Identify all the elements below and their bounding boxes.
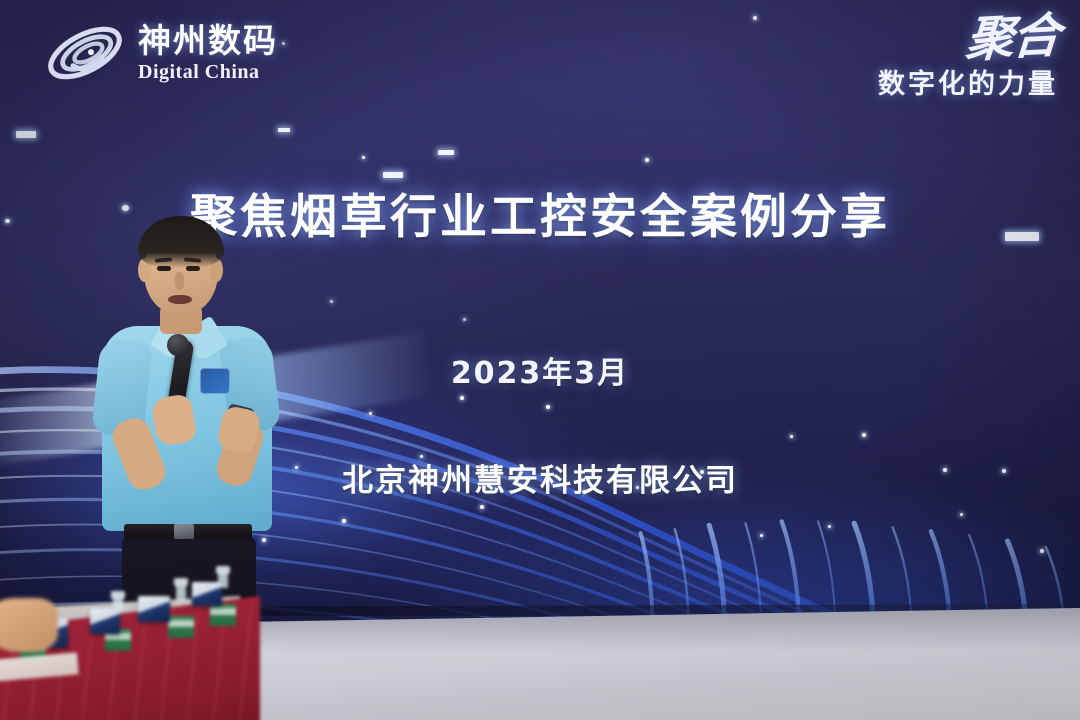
digital-china-logo: 神州数码 Digital China xyxy=(42,18,278,88)
name-card xyxy=(192,582,222,606)
bottle-label-stripe xyxy=(210,608,236,615)
logo-name-cn: 神州数码 xyxy=(138,24,278,57)
eye-right xyxy=(186,266,200,271)
bottle-label-stripe xyxy=(105,633,131,640)
juhe-logo: 聚合 数字化的力量 xyxy=(878,16,1058,101)
name-card xyxy=(138,596,170,622)
spiral-swirl-icon xyxy=(42,18,128,88)
stage-photo: 聚焦烟草行业工控安全案例分享 2023年3月 北京神州慧安科技有限公司 神州数码… xyxy=(0,0,1080,720)
foreground-table xyxy=(0,536,280,720)
juhe-calligraphy: 聚合 xyxy=(964,14,1060,63)
speaker-hair xyxy=(138,216,224,268)
attendee-hand xyxy=(0,598,58,652)
shirt-chest-logo xyxy=(200,368,230,394)
eye-left xyxy=(157,266,171,271)
mouth xyxy=(168,295,192,304)
nose xyxy=(175,272,184,290)
bottle-label-stripe xyxy=(168,620,194,627)
logo-name-en: Digital China xyxy=(138,62,278,82)
bottle-neck xyxy=(176,585,186,600)
name-card xyxy=(90,608,120,634)
